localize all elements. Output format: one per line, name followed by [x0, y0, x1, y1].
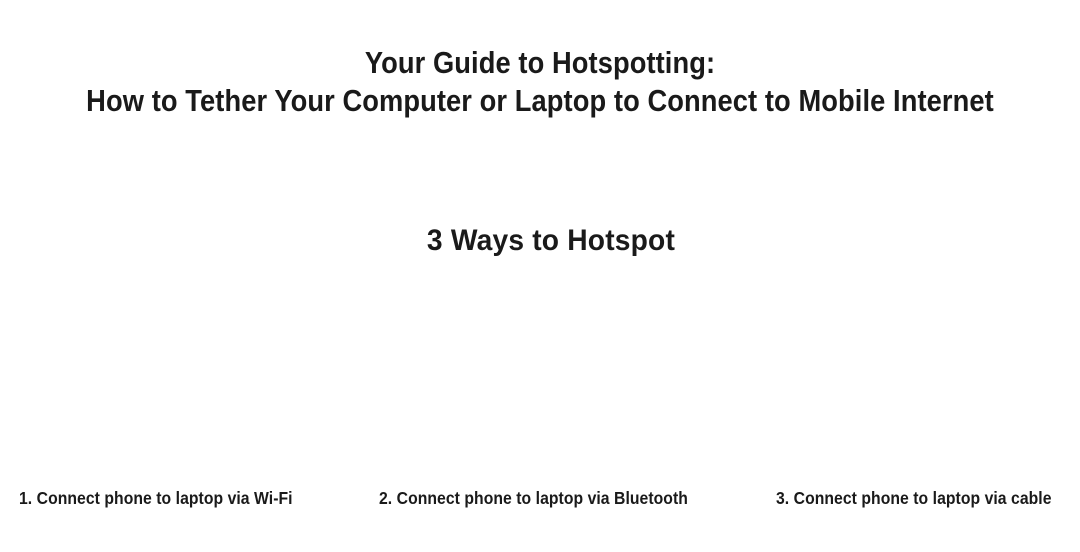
- steps-row: 1. Connect phone to laptop via Wi-Fi 2. …: [0, 486, 1080, 516]
- step-caption-bluetooth: 2. Connect phone to laptop via Bluetooth: [379, 486, 688, 510]
- section-heading: 3 Ways to Hotspot: [0, 222, 1080, 260]
- step-caption-wifi: 1. Connect phone to laptop via Wi-Fi: [19, 486, 293, 510]
- step-caption-cable: 3. Connect phone to laptop via cable: [776, 486, 1052, 510]
- infographic-canvas: Your Guide to Hotspotting: How to Tether…: [0, 0, 1080, 552]
- illustration-slot-wifi: [0, 280, 360, 476]
- section-heading-text: 3 Ways to Hotspot: [427, 222, 675, 260]
- illustration-slot-cable: [720, 280, 1080, 476]
- illustration-band: [0, 280, 1080, 476]
- page-title: Your Guide to Hotspotting: How to Tether…: [0, 44, 1080, 120]
- page-title-line-2: How to Tether Your Computer or Laptop to…: [65, 82, 1015, 120]
- illustration-slot-bluetooth: [360, 280, 720, 476]
- page-title-line-1: Your Guide to Hotspotting:: [65, 44, 1015, 82]
